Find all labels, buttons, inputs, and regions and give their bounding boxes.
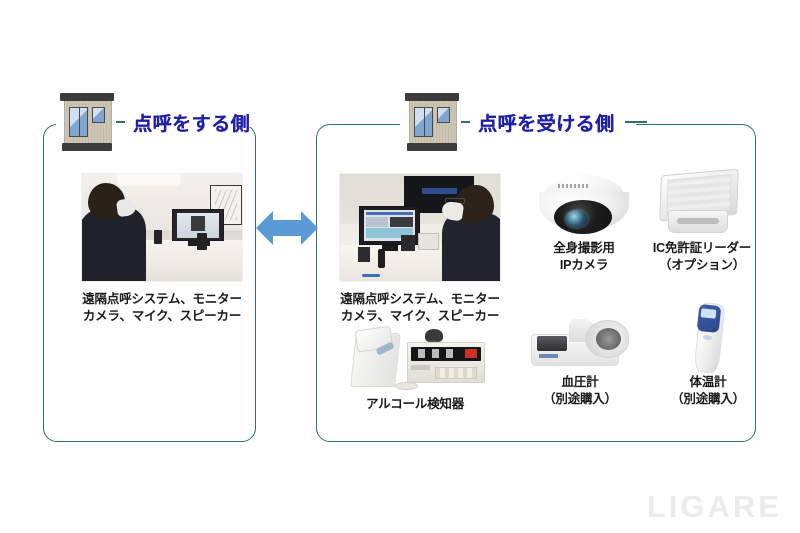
diagram-canvas: 点呼をする側 遠隔点呼システム、モニター カメラ、マイク、スピーカー (0, 0, 800, 533)
left-panel-title: 点呼をする側 (129, 109, 250, 136)
blood-pressure-monitor-icon (527, 305, 631, 373)
building-icon (60, 93, 114, 151)
header-dash-right-left (461, 121, 470, 123)
watermark: LIGARE (647, 489, 782, 525)
header-dash-right-right (625, 121, 647, 123)
thermometer-caption: 体温計 （別途購入） (648, 374, 768, 407)
alcohol-detector-caption: アルコール検知器 (340, 396, 490, 413)
right-panel-caption: 遠隔点呼システム、モニター カメラ、マイク、スピーカー (332, 291, 508, 324)
left-panel (43, 124, 256, 442)
left-panel-caption: 遠隔点呼システム、モニター カメラ、マイク、スピーカー (74, 291, 250, 324)
dome-camera-icon (530, 168, 638, 240)
ic-card-reader-icon (652, 166, 750, 240)
blood-pressure-caption: 血圧計 （別途購入） (520, 374, 640, 407)
header-dash-left (116, 121, 125, 123)
building-icon (405, 93, 459, 151)
left-room-photo (82, 174, 242, 281)
thermometer-icon (678, 300, 740, 376)
icreader-caption: IC免許証リーダー （オプション） (628, 240, 776, 273)
alcohol-detector-icon (345, 325, 485, 391)
left-panel-header: 点呼をする側 (60, 93, 250, 151)
right-panel-title: 点呼を受ける側 (474, 109, 615, 136)
right-room-photo (340, 174, 500, 281)
bidirectional-arrow-icon (256, 205, 318, 251)
right-panel-header: 点呼を受ける側 (405, 93, 647, 151)
